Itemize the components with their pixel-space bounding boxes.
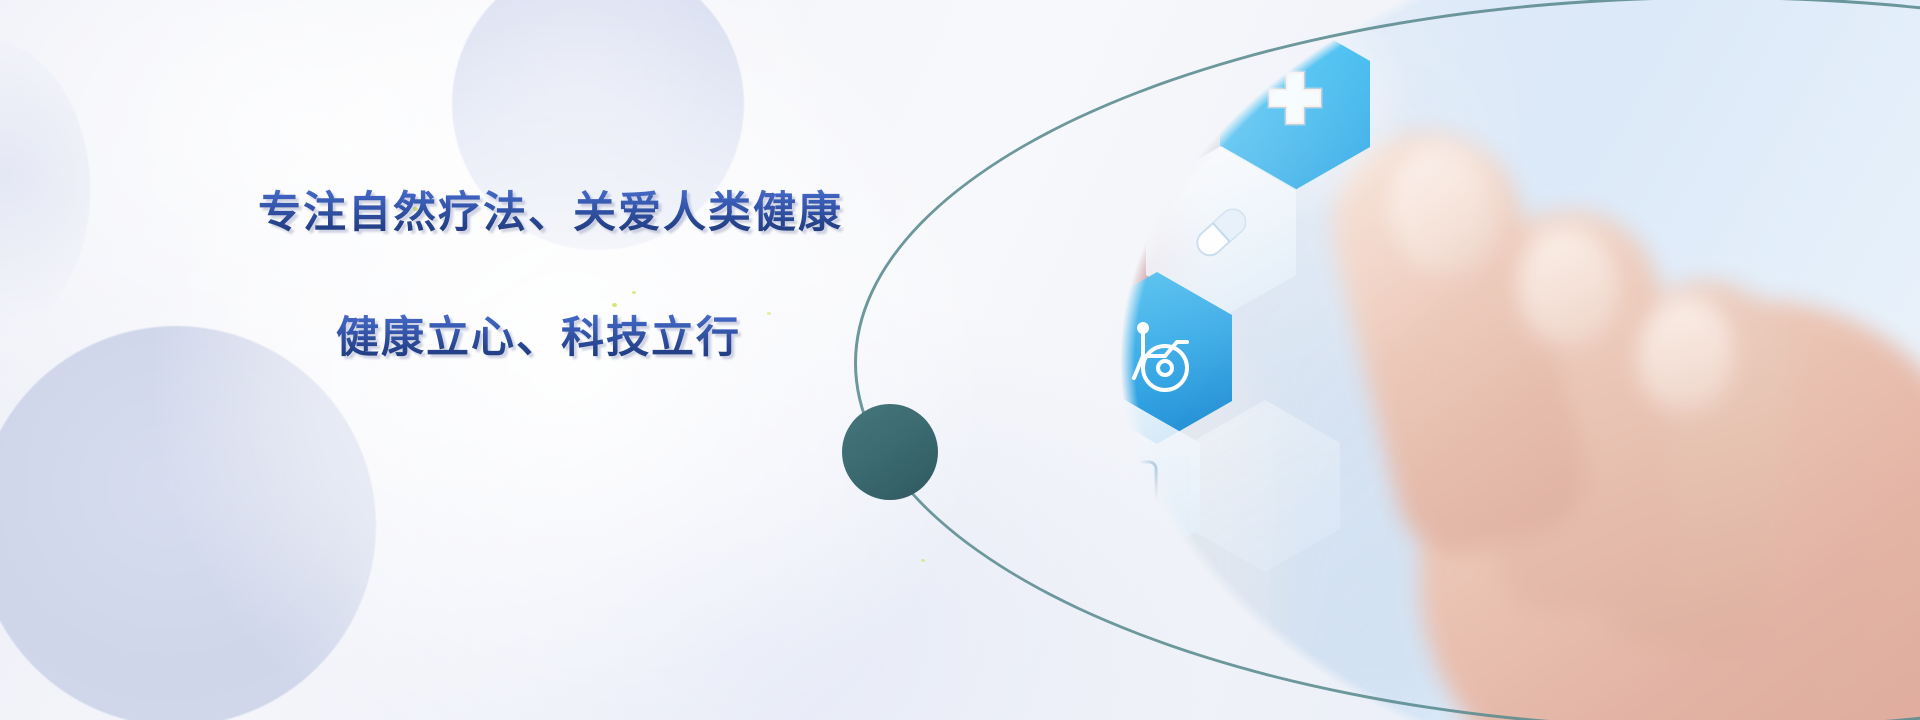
hero-banner: 专注自然疗法、关爱人类健康 健康立心、科技立行 bbox=[0, 0, 1920, 720]
hexagon-heart[interactable] bbox=[918, 526, 1068, 698]
hexagon-decorative bbox=[1190, 400, 1340, 572]
teal-circle-node bbox=[842, 404, 938, 500]
headline-line-2: 健康立心、科技立行 bbox=[336, 303, 958, 365]
photo-panel-mask bbox=[860, 0, 1920, 720]
medical-cross-icon bbox=[1257, 66, 1333, 142]
capsule-pill-icon bbox=[1180, 191, 1262, 273]
hexagon-people-group[interactable] bbox=[1052, 528, 1202, 700]
wheelchair-icon bbox=[1115, 316, 1199, 400]
hexagon-icon-cluster bbox=[860, 0, 1920, 720]
photo-panel bbox=[860, 0, 1920, 720]
syringe-icon bbox=[947, 440, 1035, 528]
people-group-icon bbox=[1083, 576, 1171, 652]
heartbeat-icon bbox=[950, 573, 1036, 651]
headline-line-1: 专注自然疗法、关爱人类健康 bbox=[258, 178, 958, 240]
first-aid-kit-icon bbox=[1084, 448, 1166, 524]
headline-block: 专注自然疗法、关爱人类健康 健康立心、科技立行 bbox=[258, 178, 958, 365]
